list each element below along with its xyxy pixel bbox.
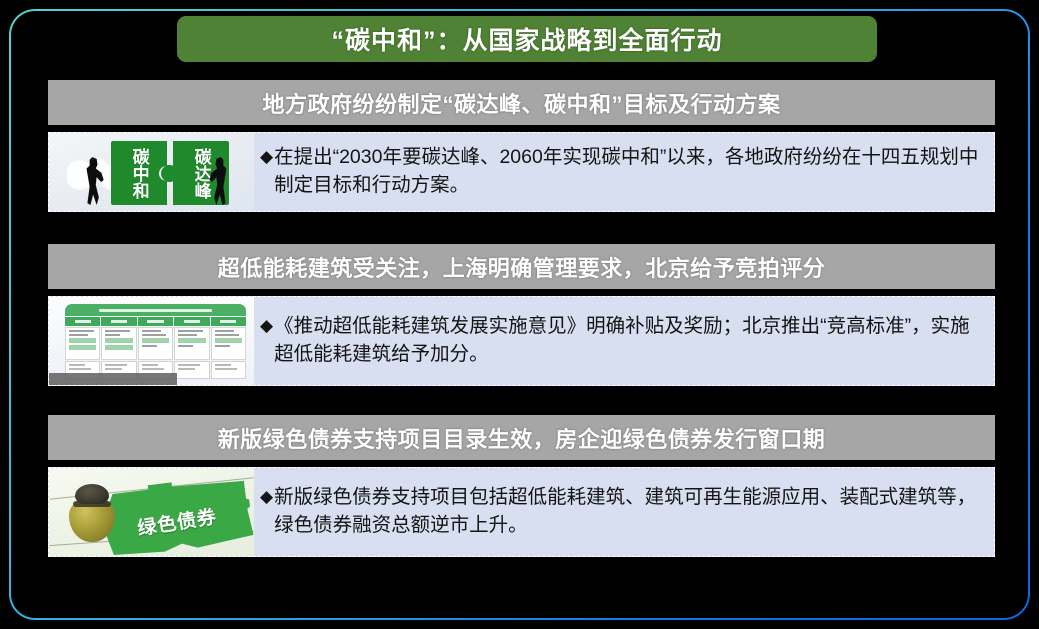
money-sack-icon — [65, 482, 121, 544]
section-local-government-targets: 地方政府纷纷制定“碳达峰、碳中和”目标及行动方案 碳中和 碳达峰 — [48, 80, 995, 212]
mini-table-cell — [174, 327, 209, 360]
diamond-bullet-icon: ◆ — [260, 313, 273, 339]
mini-table-row — [65, 327, 246, 360]
section-body: ◆ 《推动超低能耗建筑发展实施意见》明确补贴及奖励；北京推出“竞高标准”，实施超… — [48, 296, 995, 386]
mini-table-title — [65, 304, 246, 316]
mini-table-header-cell — [138, 317, 173, 326]
section-header-label: 超低能耗建筑受关注，上海明确管理要求，北京给予竞拍评分 — [218, 251, 826, 283]
mini-table-header-cell — [101, 317, 136, 326]
green-bond-puzzle-image: 绿色债券 — [49, 468, 254, 556]
bullet-item: ◆ 新版绿色债券支持项目包括超低能耗建筑、建筑可再生能源应用、装配式建筑等，绿色… — [260, 484, 980, 539]
puzzle-right-label: 碳达峰 — [192, 148, 209, 199]
section-body: 绿色债券 ◆ 新版绿色债券支持项目包括超低能耗建筑、建筑可再生能源应用、装配式建… — [48, 467, 995, 557]
mini-table-cell — [101, 327, 136, 360]
mini-table-cell — [211, 327, 246, 360]
mini-table-header-cell — [65, 317, 100, 326]
puzzle-left-label: 碳中和 — [130, 148, 147, 199]
bullet-container: ◆ 《推动超低能耗建筑发展实施意见》明确补贴及奖励；北京推出“竞高标准”，实施超… — [254, 297, 994, 385]
section-header: 新版绿色债券支持项目目录生效，房企迎绿色债券发行窗口期 — [48, 415, 995, 460]
section-header: 超低能耗建筑受关注，上海明确管理要求，北京给予竞拍评分 — [48, 244, 995, 289]
mini-table-cell — [65, 327, 100, 360]
mini-table — [65, 304, 246, 379]
diamond-bullet-icon: ◆ — [260, 484, 273, 510]
section-header-label: 地方政府纷纷制定“碳达峰、碳中和”目标及行动方案 — [262, 87, 780, 119]
diamond-bullet-icon: ◆ — [260, 144, 273, 170]
bullet-container: ◆ 在提出“2030年要碳达峰、2060年实现碳中和”以来，各地政府纷纷在十四五… — [254, 133, 994, 211]
section-header: 地方政府纷纷制定“碳达峰、碳中和”目标及行动方案 — [48, 80, 995, 125]
slide-canvas: “碳中和”：从国家战略到全面行动 地方政府纷纷制定“碳达峰、碳中和”目标及行动方… — [11, 11, 1028, 618]
bullet-text: 《推动超低能耗建筑发展实施意见》明确补贴及奖励；北京推出“竞高标准”，实施超低能… — [274, 313, 980, 368]
mini-table-cell — [174, 361, 209, 380]
mini-table-cell — [211, 361, 246, 380]
bullet-text: 新版绿色债券支持项目包括超低能耗建筑、建筑可再生能源应用、装配式建筑等，绿色债券… — [274, 484, 980, 539]
mini-table-header-cell — [174, 317, 209, 326]
slide-title-bar: “碳中和”：从国家战略到全面行动 — [177, 16, 877, 62]
policy-comparison-table-image — [49, 297, 254, 385]
mini-table-header-cell — [211, 317, 246, 326]
section-body: 碳中和 碳达峰 ◆ 在提出“2030年要碳达峰、2060年实现碳中和”以来，各地… — [48, 132, 995, 212]
bullet-item: ◆ 《推动超低能耗建筑发展实施意见》明确补贴及奖励；北京推出“竞高标准”，实施超… — [260, 313, 980, 368]
bullet-container: ◆ 新版绿色债券支持项目包括超低能耗建筑、建筑可再生能源应用、装配式建筑等，绿色… — [254, 468, 994, 556]
puzzle-knob-icon — [161, 165, 178, 182]
bullet-text: 在提出“2030年要碳达峰、2060年实现碳中和”以来，各地政府纷纷在十四五规划… — [274, 144, 980, 199]
bullet-item: ◆ 在提出“2030年要碳达峰、2060年实现碳中和”以来，各地政府纷纷在十四五… — [260, 144, 980, 199]
mini-table-cell — [138, 327, 173, 360]
section-green-bonds: 新版绿色债券支持项目目录生效，房企迎绿色债券发行窗口期 绿色债券 — [48, 415, 995, 557]
section-header-label: 新版绿色债券支持项目目录生效，房企迎绿色债券发行窗口期 — [218, 422, 826, 454]
table-caption-bar — [49, 373, 177, 385]
section-ultra-low-energy-buildings: 超低能耗建筑受关注，上海明确管理要求，北京给予竞拍评分 — [48, 244, 995, 386]
mini-table-header-row — [65, 317, 246, 326]
carbon-neutral-puzzle-image: 碳中和 碳达峰 — [49, 133, 254, 211]
puzzle-piece-left: 碳中和 — [111, 141, 167, 205]
slide-frame: “碳中和”：从国家战略到全面行动 地方政府纷纷制定“碳达峰、碳中和”目标及行动方… — [9, 9, 1030, 620]
page-title: “碳中和”：从国家战略到全面行动 — [331, 21, 722, 57]
